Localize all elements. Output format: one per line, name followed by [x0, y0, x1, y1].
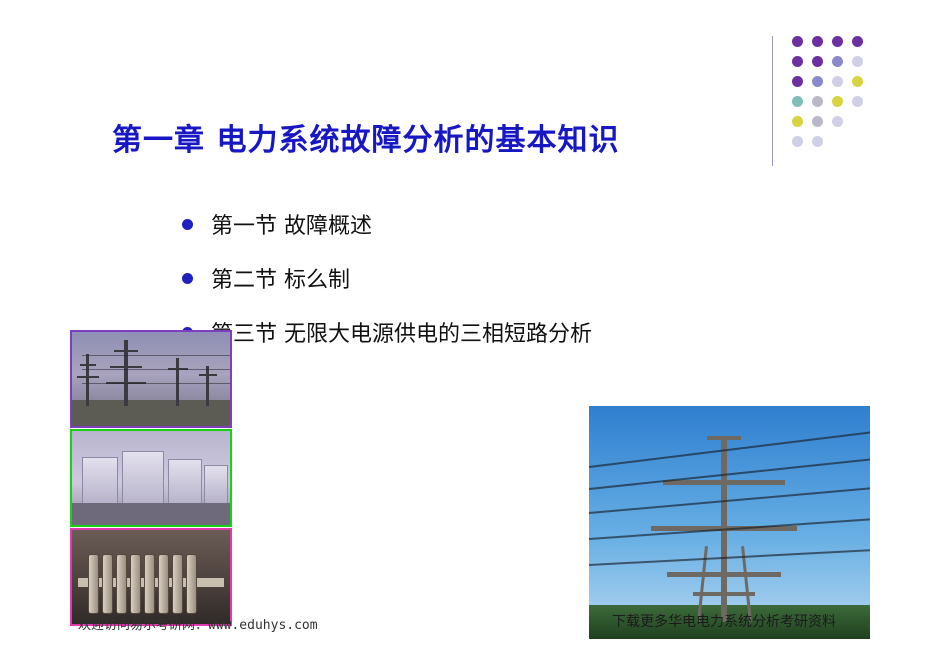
- large-pylon-blue-sky-photo: [589, 406, 870, 639]
- grid-dot: [792, 136, 803, 147]
- grid-dot: [812, 76, 823, 87]
- pylon-arm: [667, 572, 781, 577]
- list-item-label: 第二节 标么制: [211, 262, 350, 294]
- list-item[interactable]: 第二节 标么制: [182, 252, 592, 304]
- grid-dot: [832, 76, 843, 87]
- grid-dot: [832, 56, 843, 67]
- pylon-arm: [199, 374, 217, 376]
- grid-dot: [792, 96, 803, 107]
- transformer-unit: [82, 457, 118, 507]
- turbine-disc: [88, 554, 99, 614]
- slide-canvas: 第一章 电力系统故障分析的基本知识 第一节 故障概述 第二节 标么制 第三节 无…: [0, 0, 950, 672]
- decorative-dot-grid: [772, 36, 892, 166]
- grid-dot: [832, 116, 843, 127]
- grid-dot: [812, 36, 823, 47]
- bullet-dot-icon: [182, 273, 193, 284]
- list-item-label: 第一节 故障概述: [211, 208, 372, 240]
- bullet-list: 第一节 故障概述 第二节 标么制 第三节 无限大电源供电的三相短路分析: [182, 198, 592, 360]
- photo-floor: [72, 503, 230, 525]
- pylon-arm: [114, 350, 138, 352]
- dot-grid-vertical-rule: [772, 36, 773, 166]
- turbine-disc: [130, 554, 141, 614]
- grid-dot: [852, 76, 863, 87]
- grid-dot: [812, 116, 823, 127]
- grid-dot: [792, 116, 803, 127]
- turbine-disc: [116, 554, 127, 614]
- pylon-mast: [176, 358, 179, 406]
- pylon-arm: [77, 376, 99, 378]
- transmission-towers-photo: [70, 330, 232, 428]
- grid-dot: [792, 56, 803, 67]
- grid-dot: [832, 36, 843, 47]
- grid-dot: [812, 56, 823, 67]
- pylon-mast: [86, 354, 89, 406]
- grid-dot: [852, 56, 863, 67]
- transformer-hall-photo: [70, 429, 232, 527]
- footer-left-caption: 欢迎访问易尔考研网：www.eduhys.com: [78, 614, 318, 633]
- transformer-unit: [168, 459, 202, 507]
- grid-dot: [812, 136, 823, 147]
- list-item-label: 第三节 无限大电源供电的三相短路分析: [211, 316, 592, 348]
- turbine-disc: [144, 554, 155, 614]
- grid-dot: [792, 36, 803, 47]
- list-item[interactable]: 第一节 故障概述: [182, 198, 592, 250]
- pylon-arm: [707, 436, 741, 440]
- footer-right-caption: 下载更多华电电力系统分析考研资料: [612, 611, 836, 631]
- list-item[interactable]: 第三节 无限大电源供电的三相短路分析: [182, 306, 592, 358]
- turbine-disc: [186, 554, 197, 614]
- grid-dot: [852, 36, 863, 47]
- turbine-disc: [102, 554, 113, 614]
- grid-dot: [792, 76, 803, 87]
- grid-dot: [812, 96, 823, 107]
- bullet-dot-icon: [182, 219, 193, 230]
- transformer-unit: [122, 451, 164, 509]
- turbine-disc: [172, 554, 183, 614]
- grid-dot: [832, 96, 843, 107]
- power-line: [82, 355, 232, 356]
- pylon-arm: [110, 366, 142, 368]
- pylon-arm: [80, 364, 96, 366]
- grid-dot: [852, 96, 863, 107]
- power-line: [82, 383, 232, 384]
- pylon-arm: [663, 480, 785, 485]
- left-photo-strip: [70, 330, 232, 626]
- page-title: 第一章 电力系统故障分析的基本知识: [112, 115, 619, 159]
- turbine-disc: [158, 554, 169, 614]
- power-line: [82, 369, 232, 370]
- pylon-mast: [206, 366, 209, 406]
- transformer-unit: [204, 465, 228, 505]
- steam-turbine-rotor-photo: [70, 528, 232, 626]
